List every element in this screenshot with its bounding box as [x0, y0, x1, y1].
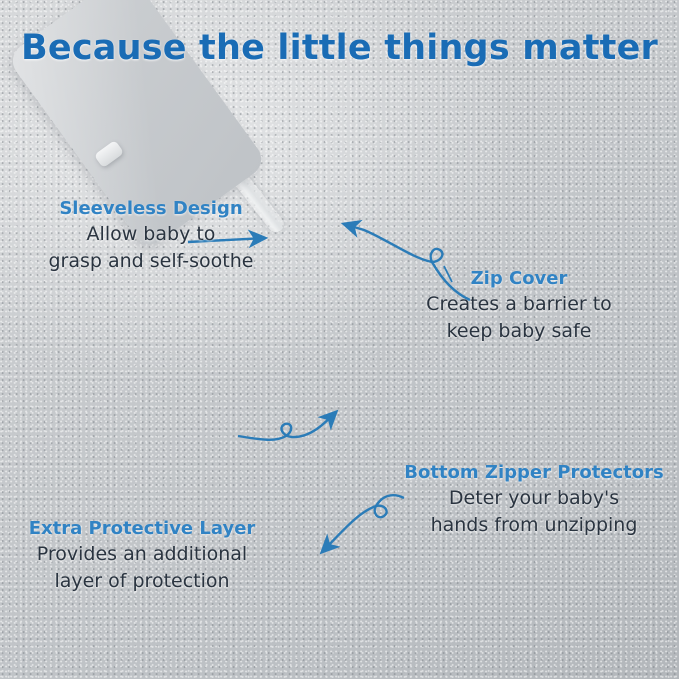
callout-body-line2: layer of protection: [10, 570, 274, 593]
callout-body-line1: Allow baby to: [26, 223, 276, 246]
callout-extra-protective-layer: Extra Protective Layer Provides an addit…: [10, 518, 274, 593]
callout-heading: Bottom Zipper Protectors: [398, 462, 670, 483]
callout-sleeveless-design: Sleeveless Design Allow baby to grasp an…: [26, 198, 276, 273]
callout-bottom-zipper-protectors: Bottom Zipper Protectors Deter your baby…: [398, 462, 670, 537]
callout-heading: Sleeveless Design: [26, 198, 276, 219]
infographic-canvas: Because the little things matter Sleevel…: [0, 0, 679, 679]
callout-body-line2: keep baby safe: [404, 320, 634, 343]
page-title: Because the little things matter: [0, 28, 679, 68]
callout-zip-cover: Zip Cover Creates a barrier to keep baby…: [404, 268, 634, 343]
callout-heading: Zip Cover: [404, 268, 634, 289]
callout-body-line1: Provides an additional: [10, 543, 274, 566]
callout-body-line1: Creates a barrier to: [404, 293, 634, 316]
callout-heading: Extra Protective Layer: [10, 518, 274, 539]
callout-body-line2: hands from unzipping: [398, 514, 670, 537]
callout-body-line1: Deter your baby's: [398, 487, 670, 510]
callout-body-line2: grasp and self-soothe: [26, 250, 276, 273]
